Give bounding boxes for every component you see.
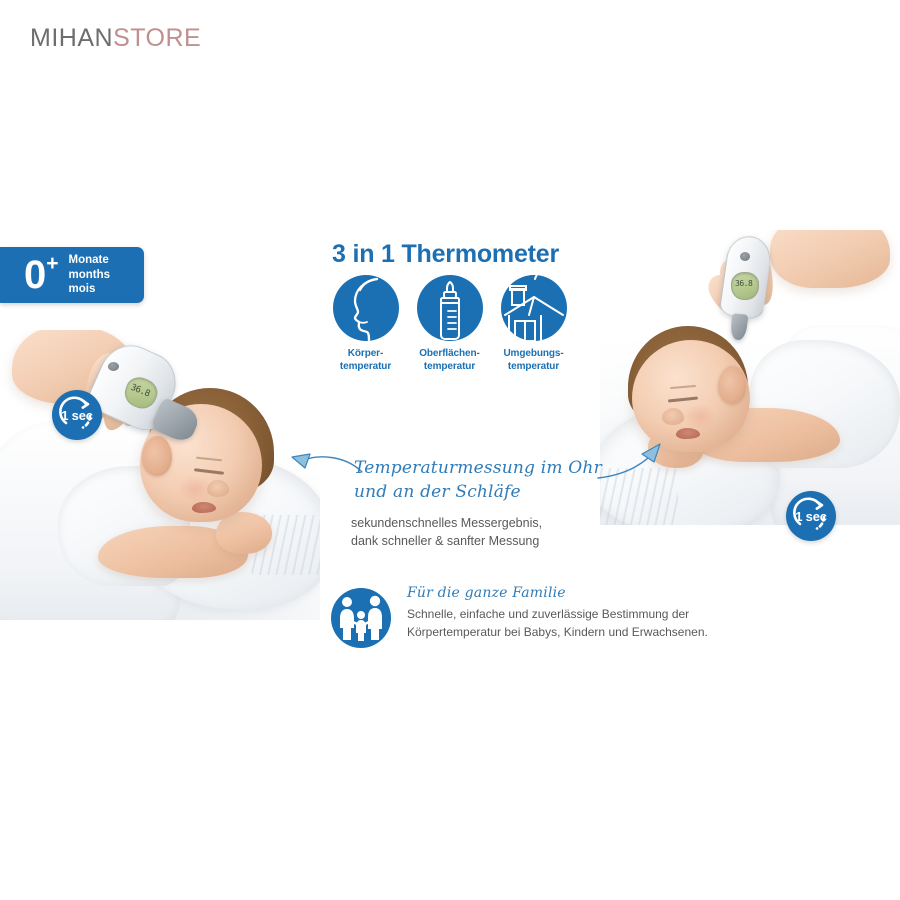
family-icon <box>331 588 391 648</box>
photo-baby-ear-measurement-left: 36.8 <box>0 330 320 620</box>
feature-ear-headline-line-2: und an der Schläfe <box>354 480 624 504</box>
logo-text-primary: MIHAN <box>30 24 113 52</box>
caption-line-1: Oberflächen- <box>414 348 485 361</box>
mode-surface-temperature-caption: Oberflächen- temperatur <box>414 348 485 373</box>
caption-line-2: temperatur <box>330 361 401 374</box>
speed-badge-right-label: 1 sec <box>786 491 836 541</box>
age-badge: 0 + Monate months mois <box>0 247 144 303</box>
feature-family-body: Schnelle, einfache und zuverlässige Best… <box>407 605 727 641</box>
thermometer-reading-right: 36.8 <box>735 280 752 288</box>
mode-ambient-temperature-caption: Umgebungs- temperatur <box>498 348 569 373</box>
age-badge-label-fr: mois <box>69 282 111 297</box>
measurement-modes-row: Körper- temperatur Oberflächen- <box>330 275 570 373</box>
speed-badge-left: 1 sec <box>52 390 102 440</box>
feature-ear-body: sekundenschnelles Messergebnis, dank sch… <box>351 514 651 550</box>
face-profile-icon <box>333 275 399 341</box>
feature-ear-headline-line-1: Temperaturmessung im Ohr <box>354 456 624 480</box>
banner-headline: 3 in 1 Thermometer <box>332 240 559 269</box>
caption-line-2: temperatur <box>498 361 569 374</box>
mode-body-temperature-caption: Körper- temperatur <box>330 348 401 373</box>
age-badge-value: 0 <box>24 255 45 295</box>
baby-cheek-right <box>684 404 716 429</box>
mode-ambient-temperature: Umgebungs- temperatur <box>498 275 569 373</box>
feature-ear-body-line-1: sekundenschnelles Messergebnis, <box>351 514 651 532</box>
logo-text-secondary: STORE <box>113 24 201 52</box>
feature-family-body-line-2: Körpertemperatur bei Babys, Kindern und … <box>407 623 727 641</box>
baby-bottle-icon <box>417 275 483 341</box>
feature-family-headline: Für die ganze Familie <box>407 585 566 601</box>
feature-ear-headline: Temperaturmessung im Ohr und an der Schl… <box>354 456 624 504</box>
mode-body-temperature: Körper- temperatur <box>330 275 401 373</box>
baby-nose-right <box>662 408 684 425</box>
baby-mouth-right <box>676 428 700 439</box>
baby-ear-right <box>718 366 746 404</box>
site-logo[interactable]: MIHANSTORE <box>30 24 201 53</box>
caption-line-2: temperatur <box>414 361 485 374</box>
adult-hand-right <box>770 230 890 288</box>
baby-cheek-left <box>178 476 212 502</box>
baby-ear-left <box>142 436 172 476</box>
speed-badge-right: 1 sec <box>786 491 836 541</box>
age-badge-labels: Monate months mois <box>69 253 111 297</box>
feature-ear-body-line-2: dank schneller & sanfter Messung <box>351 532 651 550</box>
caption-line-1: Körper- <box>330 348 401 361</box>
age-badge-label-de: Monate <box>69 253 111 268</box>
speed-badge-left-label: 1 sec <box>52 390 102 440</box>
caption-line-1: Umgebungs- <box>498 348 569 361</box>
thermometer-button-right <box>740 252 750 261</box>
baby-mouth-left <box>192 502 216 513</box>
house-sun-icon <box>501 275 567 341</box>
age-badge-plus: + <box>46 253 58 274</box>
feature-family-body-line-1: Schnelle, einfache und zuverlässige Best… <box>407 605 727 623</box>
age-badge-label-en: months <box>69 268 111 283</box>
mode-surface-temperature: Oberflächen- temperatur <box>414 275 485 373</box>
product-banner-page: MIHANSTORE <box>0 0 900 900</box>
thermometer-button-left <box>108 362 119 371</box>
